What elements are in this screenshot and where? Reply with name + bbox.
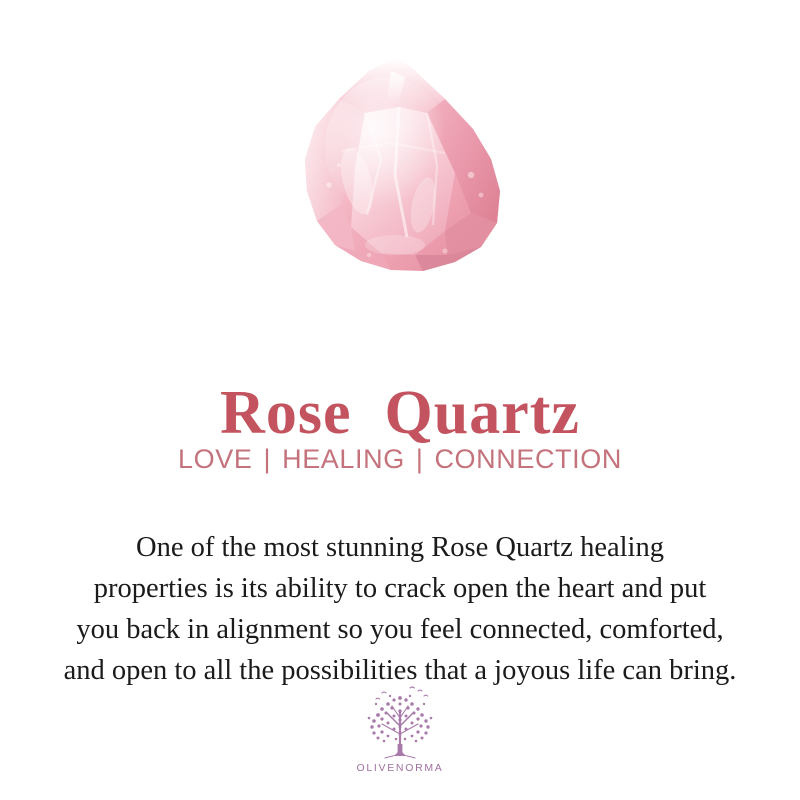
tree-roots [385, 756, 415, 758]
keyword-separator: | [405, 443, 435, 475]
page-title: Rose Quartz [0, 377, 800, 449]
crystal-speckle [367, 253, 371, 257]
rose-quartz-info-card: Rose Quartz LOVE | HEALING | CONNECTION … [0, 0, 800, 800]
keyword-separator: | [252, 443, 282, 475]
description-paragraph: One of the most stunning Rose Quartz hea… [25, 527, 775, 691]
rose-quartz-crystal-image [295, 55, 510, 280]
crystal-speckle [442, 248, 447, 253]
tree-trunk [392, 744, 408, 756]
keyword-love: LOVE [178, 443, 252, 475]
description-line: properties is its ability to crack open … [25, 568, 775, 609]
rose-quartz-crystal-icon [295, 55, 510, 280]
description-line: you back in alignment so you feel connec… [25, 609, 775, 650]
crystal-speckle [326, 182, 331, 187]
crystal-speckle [468, 172, 474, 178]
crystal-speckle [337, 163, 341, 167]
keyword-connection: CONNECTION [434, 443, 622, 475]
keyword-line: LOVE | HEALING | CONNECTION [0, 443, 800, 475]
brand-wordmark: OLIVENORMA [356, 762, 443, 774]
keyword-healing: HEALING [282, 443, 405, 475]
crystal-highlight-bottom [365, 235, 425, 255]
description-line: One of the most stunning Rose Quartz hea… [25, 527, 775, 568]
tree-of-life-icon [352, 682, 448, 760]
crystal-speckle [479, 193, 484, 198]
brand-logo: OLIVENORMA [0, 682, 800, 774]
tree-branches [382, 706, 418, 746]
bird-icon [376, 687, 428, 699]
